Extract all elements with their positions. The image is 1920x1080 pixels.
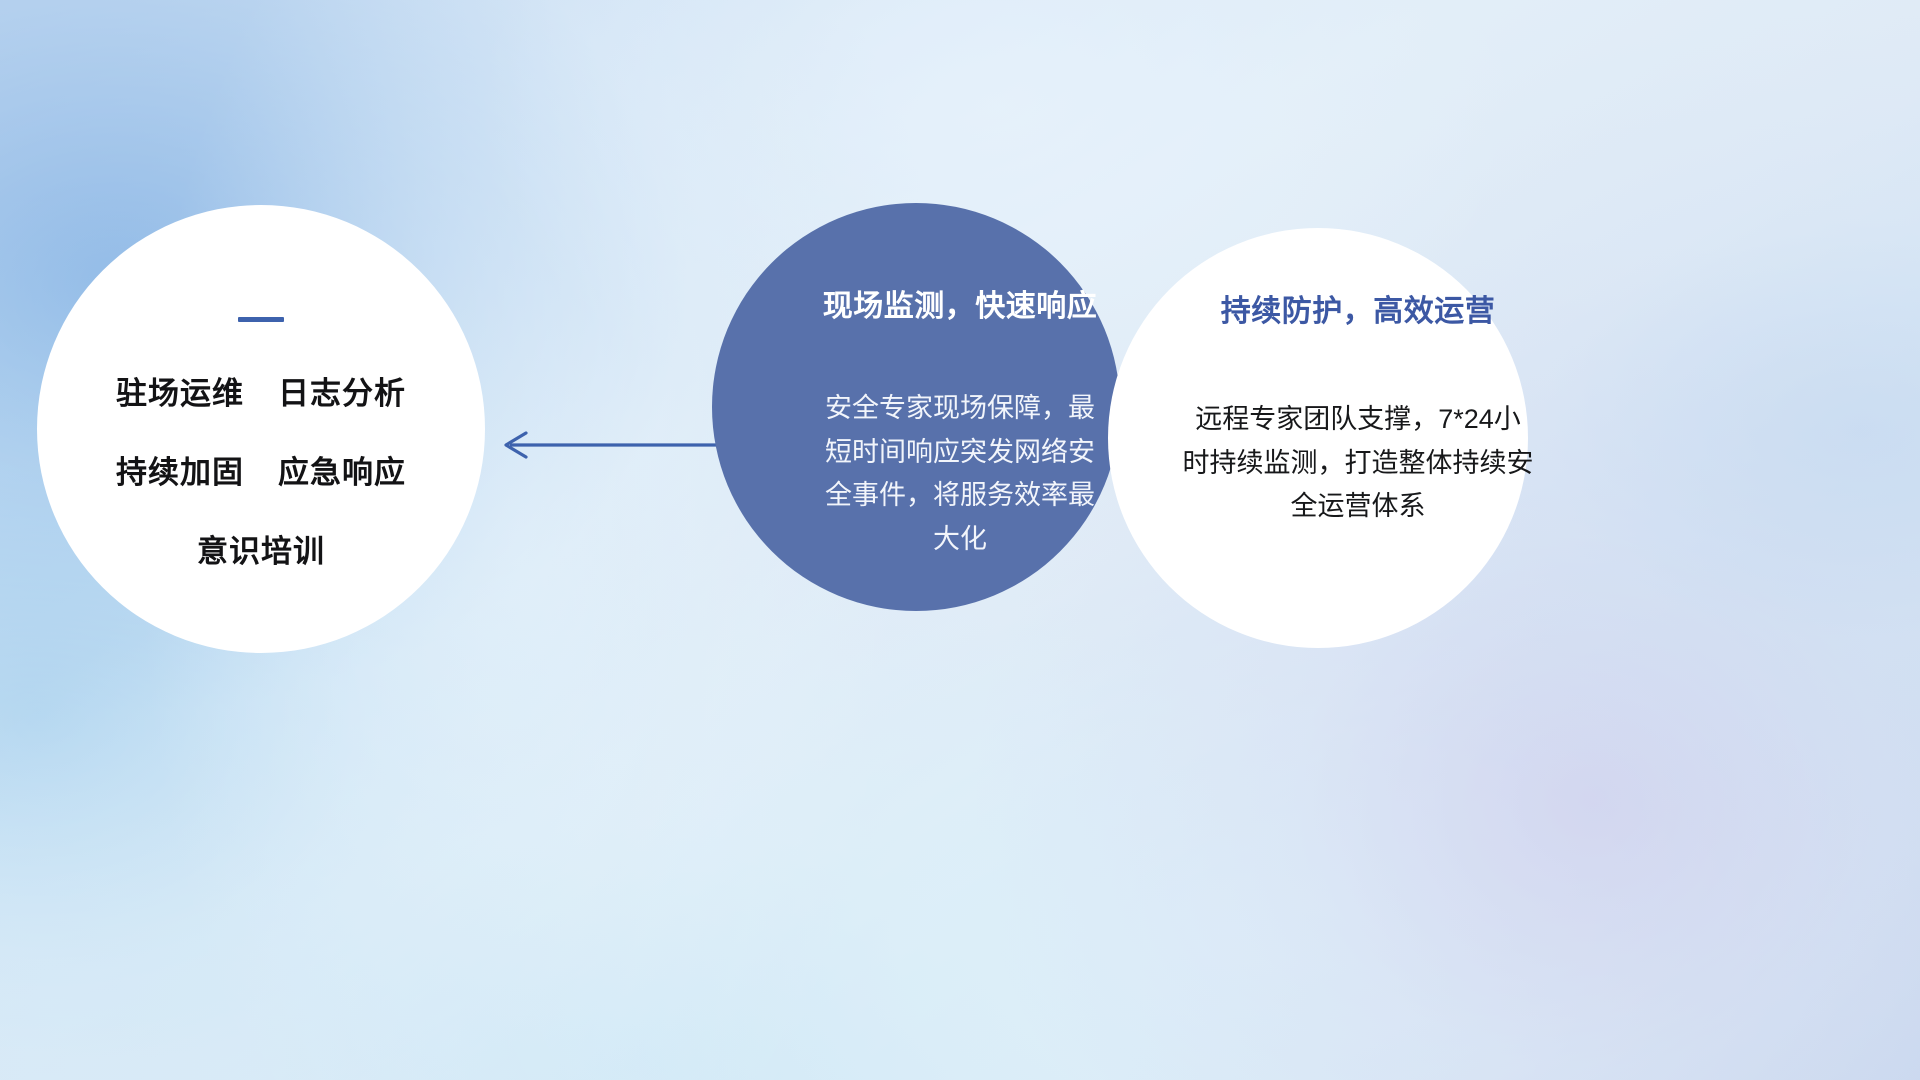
middle-card-body: 安全专家现场保障，最短时间响应突发网络安全事件，将服务效率最大化 — [824, 387, 1096, 562]
capability-tag[interactable]: 驻场运维 — [116, 368, 244, 413]
middle-card-title: 现场监测，快速响应 — [823, 281, 1098, 325]
capability-circle-right[interactable]: 持续防护，高效运营 远程专家团队支撑，7*24小时持续监测，打造整体持续安全运营… — [1108, 228, 1528, 648]
capability-circle-middle[interactable]: 现场监测，快速响应 安全专家现场保障，最短时间响应突发网络安全事件，将服务效率最… — [712, 203, 1120, 611]
divider-rule — [238, 317, 284, 322]
slide-canvas: 驻场运维 日志分析 持续加固 应急响应 意识培训 现场监测，快速响应 安全专家现… — [0, 0, 1920, 1080]
capability-tag[interactable]: 日志分析 — [278, 368, 406, 413]
right-card-body: 远程专家团队支撑，7*24小时持续监测，打造整体持续安全运营体系 — [1182, 398, 1534, 529]
right-card-title: 持续防护，高效运营 — [1221, 286, 1496, 330]
right-content: 持续防护，高效运营 远程专家团队支撑，7*24小时持续监测，打造整体持续安全运营… — [1182, 286, 1534, 529]
capability-tag-row: 持续加固 应急响应 — [116, 447, 406, 492]
capability-tag[interactable]: 意识培训 — [197, 526, 325, 571]
capability-tag-row: 驻场运维 日志分析 — [116, 368, 406, 413]
capability-tag[interactable]: 应急响应 — [278, 447, 406, 492]
capability-tag-list: 驻场运维 日志分析 持续加固 应急响应 意识培训 — [116, 368, 406, 571]
capability-tag-row: 意识培训 — [197, 526, 325, 571]
capability-tag[interactable]: 持续加固 — [116, 447, 244, 492]
capability-circle-left[interactable]: 驻场运维 日志分析 持续加固 应急响应 意识培训 — [37, 205, 485, 653]
middle-content: 现场监测，快速响应 安全专家现场保障，最短时间响应突发网络安全事件，将服务效率最… — [823, 281, 1098, 562]
